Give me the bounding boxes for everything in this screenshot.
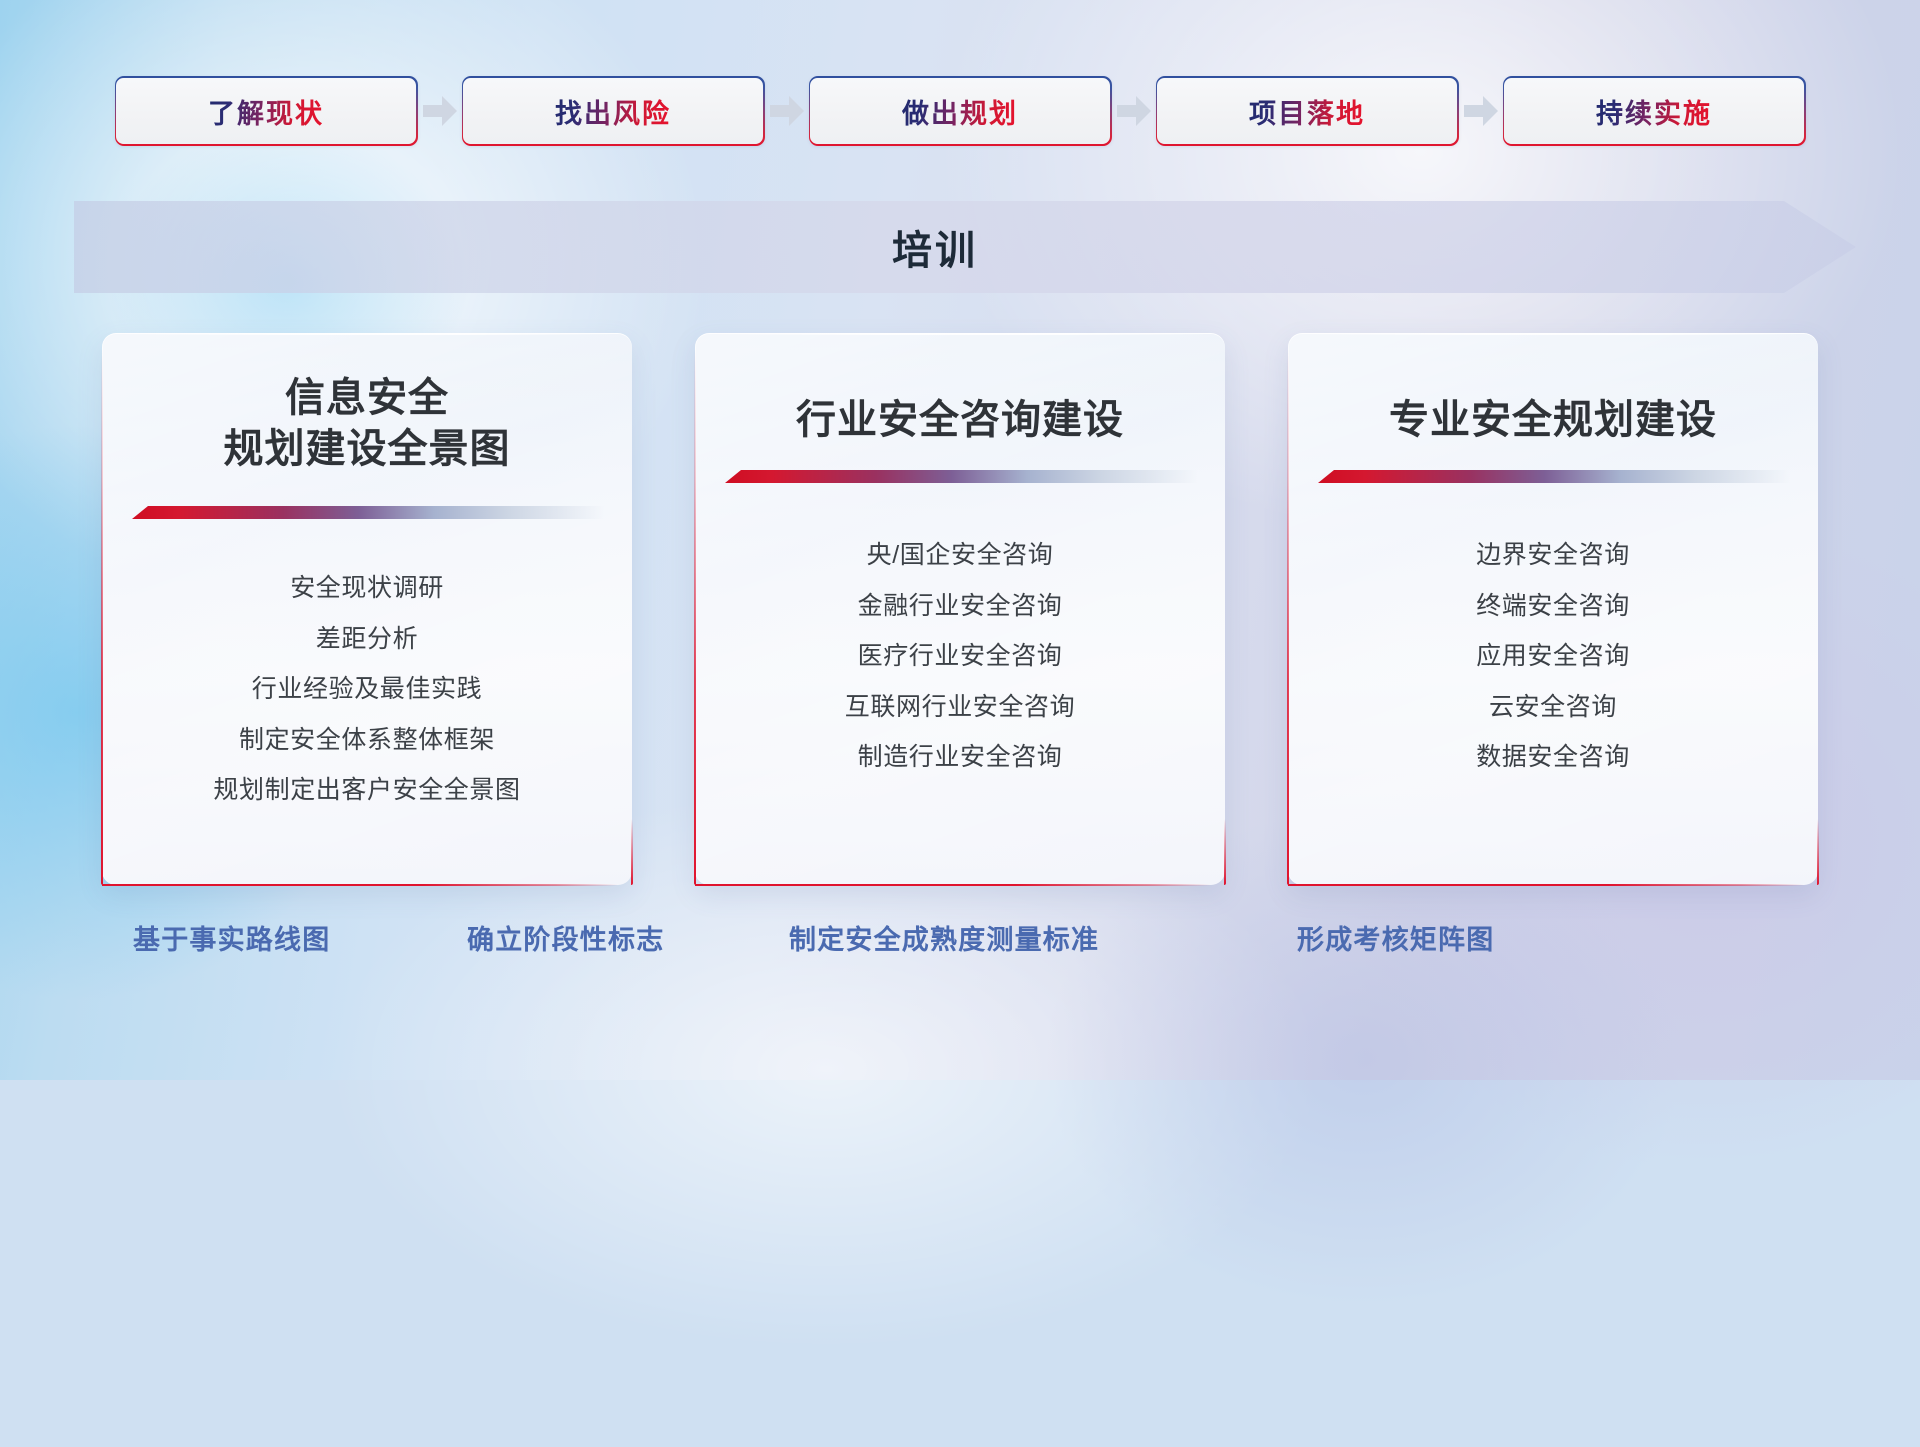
process-step-label: 持续实施 <box>1596 92 1712 131</box>
service-card-3[interactable]: 专业安全规划建设边界安全咨询终端安全咨询应用安全咨询云安全咨询数据安全咨询 <box>1288 333 1818 885</box>
card-list-item[interactable]: 央/国企安全咨询 <box>695 543 1225 568</box>
footnote-label-1: 基于事实路线图 <box>133 918 330 957</box>
banner-title: 培训 <box>74 201 1856 293</box>
card-list-item[interactable]: 差距分析 <box>102 627 632 652</box>
card-list-item[interactable]: 行业经验及最佳实践 <box>102 677 632 702</box>
card-list-item[interactable]: 医疗行业安全咨询 <box>695 644 1225 669</box>
card-title: 专业安全规划建设 <box>1288 333 1818 446</box>
card-accent-line <box>1318 470 1790 483</box>
card-list-item[interactable]: 应用安全咨询 <box>1288 644 1818 669</box>
card-list-item[interactable]: 制定安全体系整体框架 <box>102 728 632 753</box>
card-bottom-accent-edge <box>695 884 1211 886</box>
process-step-2[interactable]: 找出风险 <box>462 76 765 146</box>
card-top-highlight <box>1302 333 1804 335</box>
process-step-inner: 做出规划 <box>810 78 1110 145</box>
card-item-list: 安全现状调研差距分析行业经验及最佳实践制定安全体系整体框架规划制定出客户安全全景… <box>102 576 632 803</box>
footnote-label-4: 形成考核矩阵图 <box>1297 918 1494 957</box>
footnote-label-2: 确立阶段性标志 <box>467 918 664 957</box>
process-steps-row: 了解现状找出风险做出规划项目落地持续实施 <box>0 76 1920 146</box>
process-step-label: 项目落地 <box>1249 92 1365 131</box>
step-arrow-icon-4 <box>1459 76 1503 146</box>
card-list-item[interactable]: 规划制定出客户安全全景图 <box>102 778 632 803</box>
card-list-item[interactable]: 数据安全咨询 <box>1288 745 1818 770</box>
card-list-item[interactable]: 安全现状调研 <box>102 576 632 601</box>
process-step-label: 做出规划 <box>902 92 1018 131</box>
card-list-item[interactable]: 云安全咨询 <box>1288 695 1818 720</box>
card-list-item[interactable]: 互联网行业安全咨询 <box>695 695 1225 720</box>
card-title: 信息安全 规划建设全景图 <box>102 333 632 475</box>
process-step-1[interactable]: 了解现状 <box>115 76 418 146</box>
training-banner: 培训 <box>74 201 1856 293</box>
card-list-item[interactable]: 边界安全咨询 <box>1288 543 1818 568</box>
card-list-item[interactable]: 金融行业安全咨询 <box>695 594 1225 619</box>
card-list-item[interactable]: 制造行业安全咨询 <box>695 745 1225 770</box>
card-item-list: 边界安全咨询终端安全咨询应用安全咨询云安全咨询数据安全咨询 <box>1288 543 1818 770</box>
process-step-4[interactable]: 项目落地 <box>1156 76 1459 146</box>
card-title: 行业安全咨询建设 <box>695 333 1225 446</box>
card-top-highlight <box>116 333 618 335</box>
process-step-label: 了解现状 <box>208 92 324 131</box>
step-arrow-icon-3 <box>1112 76 1156 146</box>
process-step-label: 找出风险 <box>555 92 671 131</box>
slide-stage: 了解现状找出风险做出规划项目落地持续实施 培训 信息安全 规划建设全景图安全现状… <box>0 0 1920 1080</box>
cards-row: 信息安全 规划建设全景图安全现状调研差距分析行业经验及最佳实践制定安全体系整体框… <box>0 333 1920 885</box>
footnote-row: 基于事实路线图确立阶段性标志制定安全成熟度测量标准形成考核矩阵图 <box>0 918 1920 958</box>
process-step-5[interactable]: 持续实施 <box>1503 76 1806 146</box>
card-bottom-accent-edge <box>102 884 618 886</box>
card-bottom-accent-edge <box>1288 884 1804 886</box>
process-step-inner: 了解现状 <box>116 78 416 145</box>
step-arrow-icon-2 <box>765 76 809 146</box>
card-right-accent-edge <box>1817 819 1819 885</box>
process-step-inner: 持续实施 <box>1504 78 1804 145</box>
process-step-inner: 项目落地 <box>1157 78 1457 145</box>
card-item-list: 央/国企安全咨询金融行业安全咨询医疗行业安全咨询互联网行业安全咨询制造行业安全咨… <box>695 543 1225 770</box>
service-card-2[interactable]: 行业安全咨询建设央/国企安全咨询金融行业安全咨询医疗行业安全咨询互联网行业安全咨… <box>695 333 1225 885</box>
process-step-inner: 找出风险 <box>463 78 763 145</box>
process-step-3[interactable]: 做出规划 <box>809 76 1112 146</box>
card-list-item[interactable]: 终端安全咨询 <box>1288 594 1818 619</box>
card-accent-line <box>725 470 1197 483</box>
card-right-accent-edge <box>1224 819 1226 885</box>
card-accent-line <box>132 506 604 519</box>
footnote-label-3: 制定安全成熟度测量标准 <box>789 918 1099 957</box>
service-card-1[interactable]: 信息安全 规划建设全景图安全现状调研差距分析行业经验及最佳实践制定安全体系整体框… <box>102 333 632 885</box>
card-top-highlight <box>709 333 1211 335</box>
step-arrow-icon-1 <box>418 76 462 146</box>
card-right-accent-edge <box>631 819 633 885</box>
